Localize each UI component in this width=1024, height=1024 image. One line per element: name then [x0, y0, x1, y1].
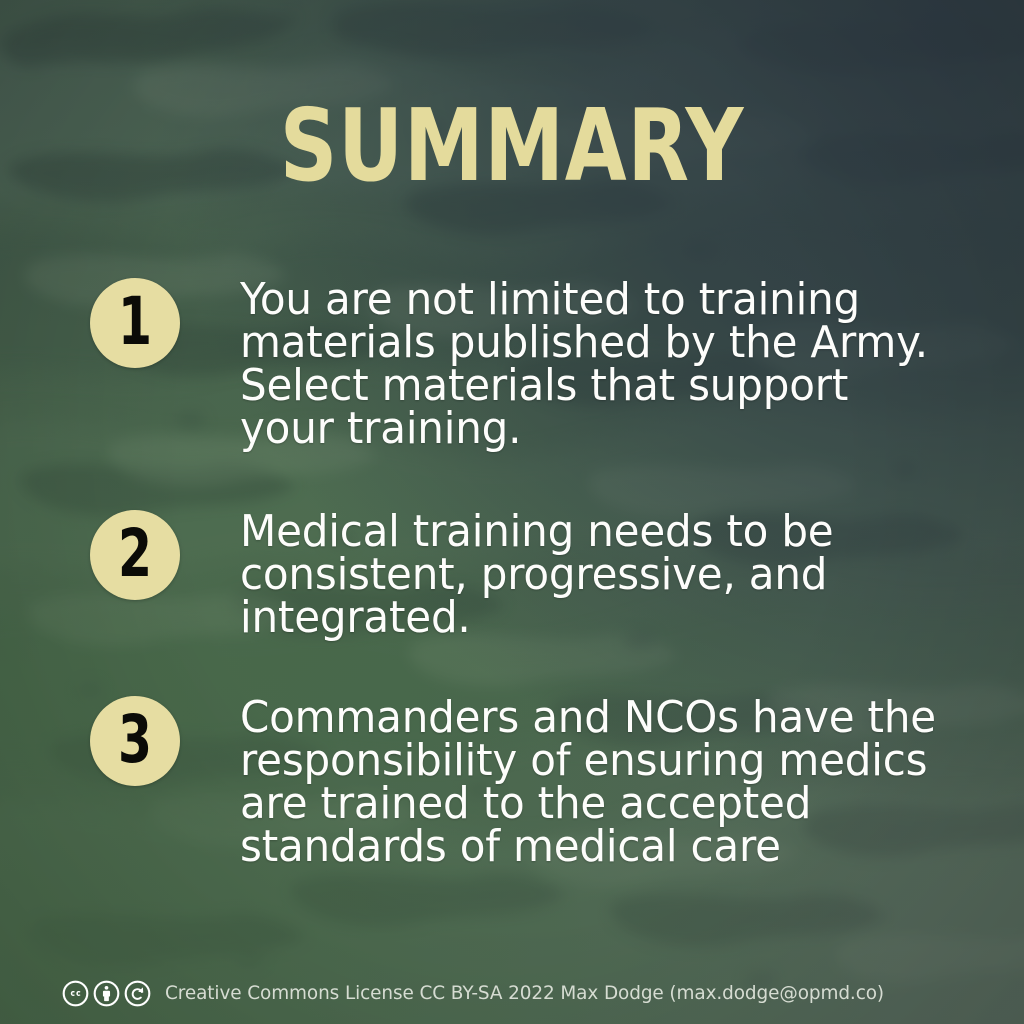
list-item-number: 2 — [118, 521, 152, 587]
list-item: 3 Commanders and NCOs have the responsib… — [0, 696, 1024, 868]
list-item-number: 3 — [118, 707, 152, 773]
page-title: SUMMARY — [102, 96, 921, 196]
list-item: 2 Medical training needs to be consisten… — [0, 510, 1024, 639]
list-item-text: Commanders and NCOs have the responsibil… — [240, 696, 937, 868]
attribution-person-icon — [93, 980, 120, 1007]
list-item-text: You are not limited to training material… — [240, 278, 937, 450]
list-item-number-badge: 1 — [90, 278, 180, 368]
creative-commons-badge-group — [62, 980, 151, 1007]
license-footer: Creative Commons License CC BY-SA 2022 M… — [62, 978, 906, 1008]
creative-commons-icon — [62, 980, 89, 1007]
list-item-number: 1 — [118, 289, 152, 355]
list-item-text: Medical training needs to be consistent,… — [240, 510, 937, 639]
list-item: 1 You are not limited to training materi… — [0, 278, 1024, 450]
share-alike-icon — [124, 980, 151, 1007]
list-item-number-badge: 3 — [90, 696, 180, 786]
slide-canvas: SUMMARY 1 You are not limited to trainin… — [0, 0, 1024, 1024]
license-text: Creative Commons License CC BY-SA 2022 M… — [165, 984, 884, 1003]
list-item-number-badge: 2 — [90, 510, 180, 600]
